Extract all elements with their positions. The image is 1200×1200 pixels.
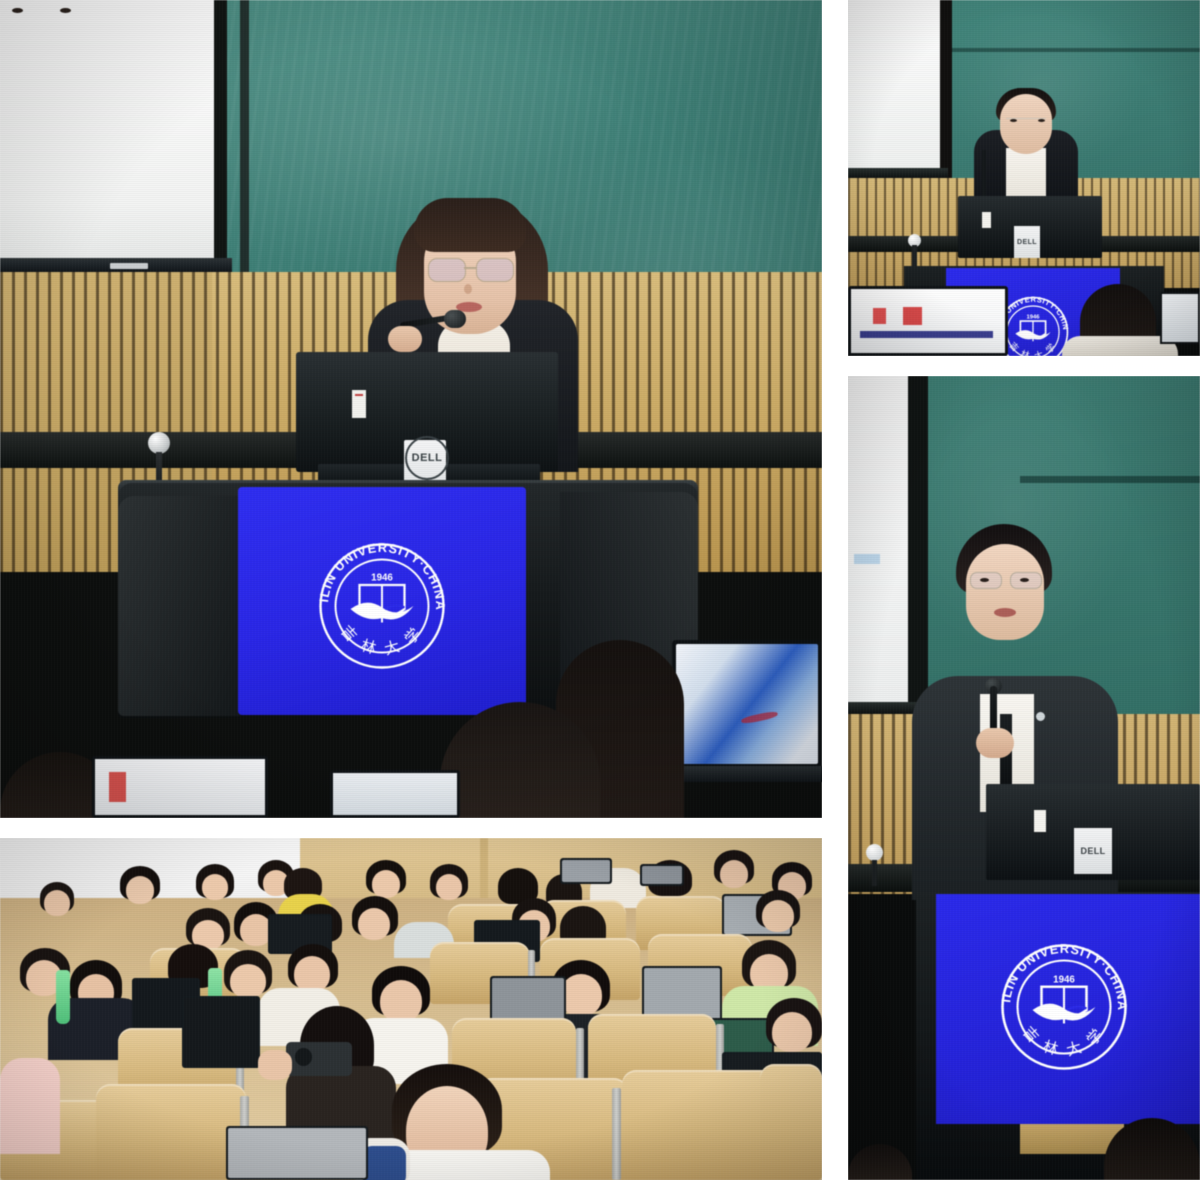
chalkboard-seam (952, 48, 1200, 52)
audience-face (720, 860, 748, 888)
seat-back (622, 1070, 778, 1180)
seat-post (612, 1088, 621, 1180)
svg-text:吉 林 大 学: 吉 林 大 学 (337, 623, 427, 659)
audience-torso-pink (0, 1058, 60, 1154)
foreground-student-sleeve-patch (362, 1146, 406, 1180)
microphone-head-stand (148, 432, 170, 454)
photo-collage: DELL JILIN UNIVERSITY·CHINA (0, 0, 1200, 1200)
laptop (640, 864, 684, 886)
presenter-hand (976, 728, 1014, 758)
audience-hand (258, 1050, 292, 1080)
seat-back (760, 1064, 822, 1180)
presenter-eye-left (12, 8, 23, 13)
presenter-fringe (414, 198, 526, 252)
audience-laptop-open (672, 640, 822, 768)
projection-screen-pull-tab (110, 263, 148, 269)
presenter-hand (388, 326, 422, 352)
dell-logo: DELL (405, 436, 449, 480)
lecture-hall-scene-close: DELL JILIN UNIVERSITY·CHINA (848, 376, 1200, 1180)
presenter-eye-right (1038, 119, 1045, 122)
glasses-bridge (464, 267, 476, 269)
projection-screen (848, 376, 908, 706)
audience-face (358, 908, 390, 940)
audience-face (436, 874, 462, 900)
projection-screen (0, 0, 214, 262)
photo-bottom-right-speaker: DELL JILIN UNIVERSITY·CHINA (848, 376, 1200, 1180)
microphone-stand (872, 860, 877, 886)
presenter-eye-left (1010, 119, 1017, 122)
monitor-asset-sticker (1034, 810, 1046, 832)
audience-face (230, 964, 266, 998)
audience-face (294, 956, 330, 992)
water-bottle-green (56, 970, 70, 1024)
audience-face (44, 890, 70, 916)
audience-laptop-left (92, 756, 268, 818)
dell-logo: DELL (1014, 226, 1040, 258)
audience-face (372, 870, 400, 898)
monitor-asset-sticker (982, 212, 991, 228)
svg-text:吉 林 大 学: 吉 林 大 学 (1007, 339, 1058, 356)
chalkboard-seam (1020, 476, 1200, 483)
audience-face (772, 1012, 812, 1052)
podium-left-wing (118, 496, 240, 716)
audience-face (126, 876, 154, 904)
microphone-boom (982, 150, 986, 198)
presenter-face (966, 544, 1044, 640)
projection-screen-bar (848, 168, 948, 178)
jilin-university-crest: JILIN UNIVERSITY·CHINA 吉 林 大 学 1946 (260, 531, 504, 681)
audience-face (380, 980, 422, 1022)
svg-text:JILIN UNIVERSITY·CHINA: JILIN UNIVERSITY·CHINA (985, 932, 1130, 1011)
presenter-eye-right (1020, 578, 1029, 582)
foreground-audience-head-left (848, 1144, 912, 1180)
presenter-nose (464, 284, 472, 294)
audience-face (560, 974, 602, 1016)
presenter-glasses (428, 258, 514, 280)
gooseneck-microphone-head (444, 310, 466, 328)
audience-laptop-left (848, 286, 1008, 356)
svg-text:1946: 1946 (1026, 315, 1040, 321)
projection-screen (848, 0, 940, 172)
audience-laptop-base (660, 766, 822, 782)
audience-face (202, 874, 228, 900)
presenter-mouth (994, 608, 1016, 617)
glasses-lens-right (476, 258, 514, 282)
presenter-eye-right (60, 8, 71, 13)
svg-text:JILIN UNIVERSITY·CHINA: JILIN UNIVERSITY·CHINA (303, 531, 448, 611)
monitor-asset-sticker (352, 390, 366, 418)
smartphone (286, 1042, 352, 1076)
foreground-laptop (226, 1126, 368, 1180)
svg-text:1946: 1946 (371, 573, 393, 584)
audience-laptop-right (1160, 292, 1200, 344)
jilin-university-crest: JILIN UNIVERSITY·CHINA 吉 林 大 学 1946 (982, 932, 1146, 1082)
lecture-hall-scene: DELL JILIN UNIVERSITY·CHINA (0, 0, 822, 818)
audience-scene (0, 838, 822, 1180)
audience-face (762, 900, 794, 932)
laptop-screen-wallpaper (676, 644, 818, 764)
projection-screen-bar (848, 702, 918, 714)
laptop (560, 858, 612, 884)
photo-audience (0, 838, 822, 1180)
presenter-eye-left (980, 578, 989, 582)
glasses-lens-left (428, 258, 466, 282)
podium-blue-placard: JILIN UNIVERSITY·CHINA 吉 林 大 学 1946 (936, 894, 1200, 1124)
svg-text:1946: 1946 (1053, 974, 1075, 985)
laptop-dark (182, 996, 260, 1068)
dell-logo: DELL (1074, 828, 1112, 874)
podium-blue-placard: JILIN UNIVERSITY·CHINA 吉 林 大 学 1946 (238, 487, 526, 715)
microphone-head-stand (866, 844, 883, 861)
seat-back (96, 1084, 246, 1180)
svg-text:吉 林 大 学: 吉 林 大 学 (1019, 1024, 1109, 1060)
audience-laptop-center (330, 770, 460, 818)
photo-main-speaker: DELL JILIN UNIVERSITY·CHINA (0, 0, 822, 818)
lapel-pin (1036, 712, 1045, 721)
photo-top-right-speaker: DELL JILIN UNIVERSITY·CHINA (848, 0, 1200, 356)
lecture-hall-scene-wide: DELL JILIN UNIVERSITY·CHINA (848, 0, 1200, 356)
